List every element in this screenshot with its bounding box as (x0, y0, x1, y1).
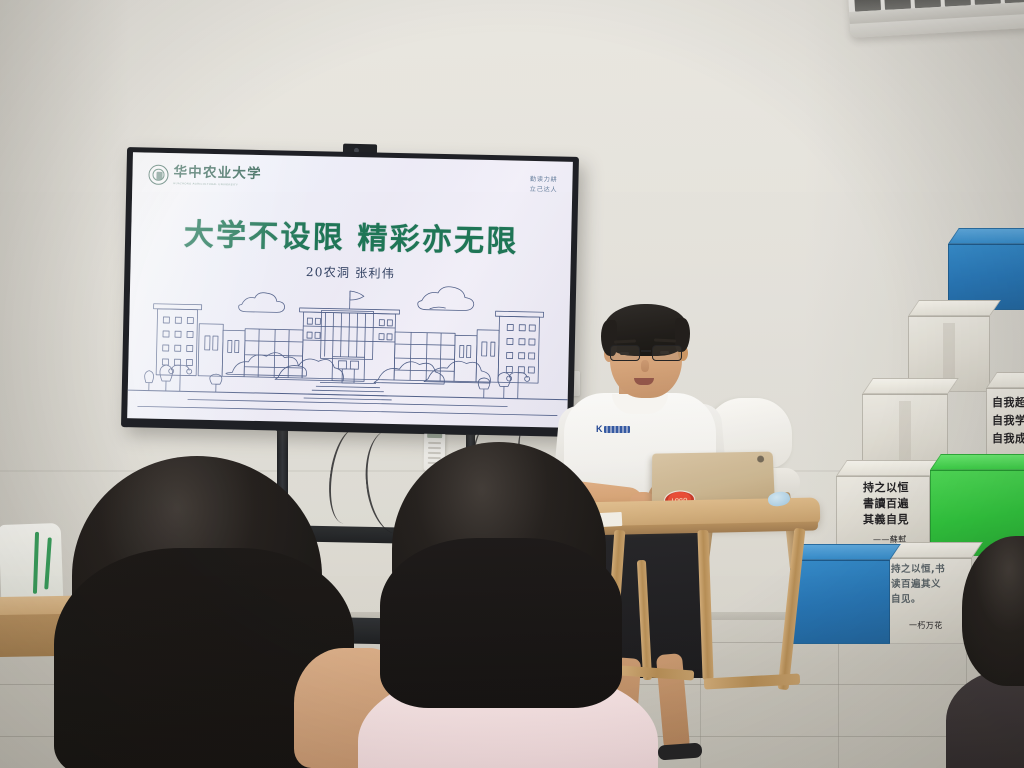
box-text-line: 自我超 (992, 397, 1024, 410)
box-text-line: 读百遍其义 (891, 579, 941, 590)
campus-illustration (127, 278, 570, 424)
tv-bezel: 华中农业大学 HUAZHONG AGRICULTURAL UNIVERSITY … (121, 147, 579, 437)
box-text-line: 書讀百遍 (863, 498, 909, 511)
bag-stripe (44, 537, 52, 589)
audience-head-center (372, 442, 640, 768)
presenter-nose (641, 360, 649, 372)
slide-title: 大学不设限 精彩亦无限 (131, 208, 572, 262)
shirt-logo-wordmark (604, 426, 630, 433)
university-seal-icon (148, 165, 168, 185)
presenter-sandal (658, 742, 703, 760)
audience-hair (962, 536, 1024, 686)
shirt-logo: K (596, 424, 630, 434)
motto-line-2: 立己达人 (530, 185, 558, 196)
university-motto: 勤读力耕 立己达人 (530, 175, 558, 196)
laptop-camera-icon (757, 456, 764, 463)
box-blue-lower (790, 560, 890, 644)
motto-line-1: 勤读力耕 (530, 175, 558, 186)
bag-stripe (33, 532, 39, 594)
box-card-lower: 持之以恒,书 读百遍其义 自见。 一朽万花 (886, 558, 972, 644)
box-text-line: 其義自見 (863, 514, 909, 527)
university-logo: 华中农业大学 HUAZHONG AGRICULTURAL UNIVERSITY (148, 165, 262, 187)
box-text-line: 自我成 (992, 433, 1024, 446)
box-text-line: 自见。 (891, 594, 921, 605)
shirt-logo-letter: K (596, 424, 603, 434)
university-name-cn: 华中农业大学 (173, 166, 261, 181)
box-text-signature: 一朽万花 (909, 621, 943, 630)
university-name-en: HUAZHONG AGRICULTURAL UNIVERSITY (173, 182, 261, 187)
box-text-line: 自我学 (992, 415, 1024, 428)
tv-screen: 华中农业大学 HUAZHONG AGRICULTURAL UNIVERSITY … (127, 152, 573, 428)
box-text-line: 持之以恒,书 (891, 564, 945, 575)
box-text-line: 持之以恒 (863, 482, 909, 495)
audience-hair-length (380, 538, 622, 708)
television: 华中农业大学 HUAZHONG AGRICULTURAL UNIVERSITY … (121, 147, 579, 437)
audience-head-right (962, 536, 1024, 768)
photo-scene: 华中农业大学 HUAZHONG AGRICULTURAL UNIVERSITY … (0, 0, 1024, 768)
